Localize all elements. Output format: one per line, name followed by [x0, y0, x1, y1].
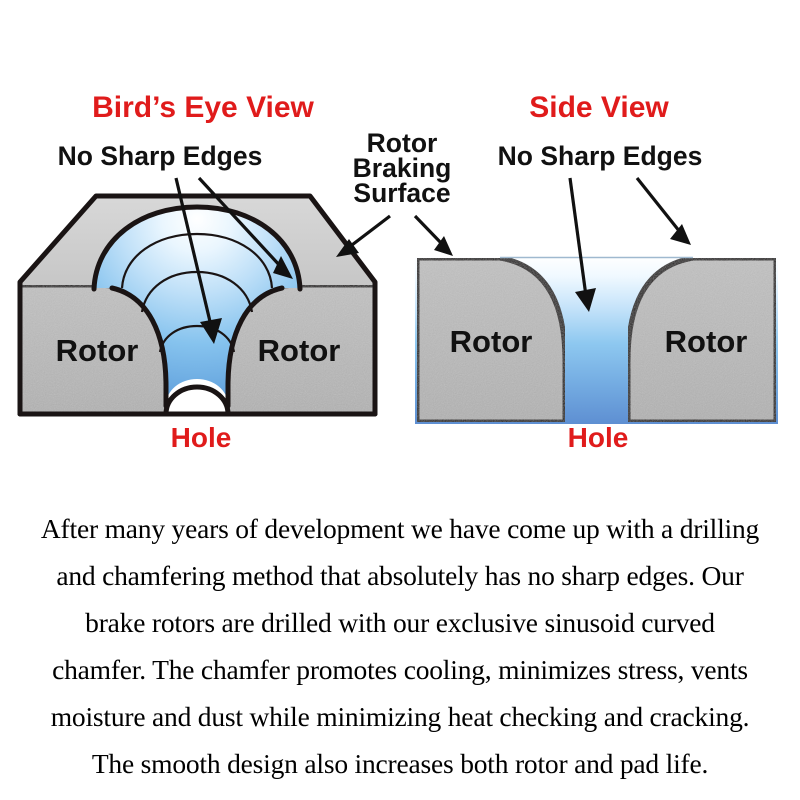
right-no-sharp-edges-label: No Sharp Edges — [498, 141, 703, 171]
rotor-chamfer-illustration: Bird’s Eye View No Sharp Edges — [0, 0, 800, 500]
caption-paragraph: After many years of development we have … — [0, 505, 800, 787]
right-rotor-label-right: Rotor — [665, 324, 748, 359]
left-hole-opening — [166, 387, 228, 414]
left-rotor-label-left: Rotor — [56, 333, 139, 368]
left-rotor-label-right: Rotor — [258, 333, 341, 368]
left-hole-label: Hole — [171, 422, 232, 453]
braking-surface-arrow-right — [415, 216, 453, 256]
caption-line-4: chamfer. The chamfer promotes cooling, m… — [8, 646, 792, 693]
rotor-braking-surface-callout: Rotor Braking Surface — [336, 128, 453, 257]
caption-line-6: The smooth design also increases both ro… — [8, 740, 792, 787]
right-rotor-label-left: Rotor — [450, 324, 533, 359]
right-hole-label: Hole — [568, 422, 629, 453]
left-diagram-title: Bird’s Eye View — [92, 91, 314, 124]
braking-surface-arrow-left — [336, 216, 390, 257]
caption-line-3: brake rotors are drilled with our exclus… — [8, 599, 792, 646]
caption-line-5: moisture and dust while minimizing heat … — [8, 693, 792, 740]
right-no-sharp-edges-arrow-b — [637, 178, 691, 245]
left-diagram-group: Bird’s Eye View No Sharp Edges — [20, 91, 375, 453]
left-no-sharp-edges-label: No Sharp Edges — [58, 141, 263, 171]
diagram-area: Bird’s Eye View No Sharp Edges — [0, 0, 800, 500]
right-diagram-title: Side View — [529, 91, 669, 124]
right-diagram-group: Side View No Sharp Edges Rotor Rotor Hol… — [415, 91, 778, 453]
caption-line-1: After many years of development we have … — [8, 505, 792, 552]
caption-line-2: and chamfering method that absolutely ha… — [8, 552, 792, 599]
rotor-braking-surface-line-3: Surface — [353, 178, 450, 208]
page-root: Bird’s Eye View No Sharp Edges — [0, 0, 800, 800]
